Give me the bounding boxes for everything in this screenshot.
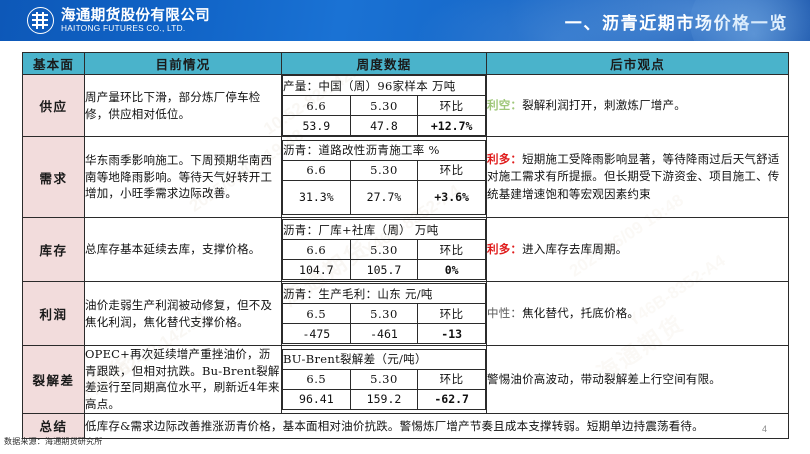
summary-text: 低库存&需求边际改善推涨沥青价格，基本面相对油价抗跌。警惕炼厂增产节奏且成本支撑…: [85, 413, 789, 438]
weekly-value-b: -461: [350, 324, 418, 344]
col-header-view: 后市观点: [487, 53, 789, 75]
row-category: 需求: [23, 137, 85, 218]
source-note: 数据来源：海通期货研究所: [4, 436, 102, 447]
weekly-date-a: 6.6: [283, 160, 351, 180]
view-text: 进入库存去库周期。: [522, 242, 627, 256]
table-row: 利润 油价走弱生产利润被动修复，但不及焦化利润，焦化替代支撑价格。 沥青：生产毛…: [23, 282, 789, 346]
page-number: 4: [762, 424, 767, 434]
weekly-change-label: 环比: [418, 369, 486, 389]
fundamentals-table: 基本面 目前情况 周度数据 后市观点 供应 周产量环比下滑，部分炼厂停车检修，供…: [22, 52, 789, 439]
bottom-strip: [0, 446, 810, 454]
weekly-date-b: 5.30: [350, 160, 418, 180]
weekly-value-b: 27.7%: [350, 180, 418, 214]
weekly-change-label: 环比: [418, 96, 486, 116]
weekly-mini-table: 沥青：厂库+社库（周） 万吨 6.6 5.30 环比 104.7 105.7 0…: [282, 219, 486, 280]
row-view: 中性：焦化替代，托底价格。: [487, 282, 789, 346]
row-category: 供应: [23, 75, 85, 137]
weekly-change-value: -13: [418, 324, 486, 344]
table-row: 库存 总库存基本延续去库，支撑价格。 沥青：厂库+社库（周） 万吨 6.6 5.…: [23, 218, 789, 282]
weekly-date-b: 5.30: [350, 96, 418, 116]
weekly-date-b: 5.30: [350, 240, 418, 260]
row-situation: 油价走弱生产利润被动修复，但不及焦化利润，焦化替代支撑价格。: [85, 282, 282, 346]
row-weekly-block: 沥青：生产毛利：山东 元/吨 6.5 5.30 环比 -475 -461 -13: [282, 282, 487, 346]
table-header-row: 基本面 目前情况 周度数据 后市观点: [23, 53, 789, 75]
row-view: 利空：裂解利润打开，刺激炼厂增产。: [487, 75, 789, 137]
weekly-date-b: 5.30: [350, 304, 418, 324]
row-category: 裂解差: [23, 346, 85, 414]
weekly-title: BU-Brent裂解差（元/吨）: [283, 349, 486, 369]
summary-label: 总结: [23, 413, 85, 438]
weekly-date-a: 6.6: [283, 240, 351, 260]
brand-block: 海通期货股份有限公司 HAITONG FUTURES CO., LTD.: [27, 7, 210, 34]
slide-title: 一、沥青近期市场价格一览: [565, 9, 788, 34]
view-tag: 利多：: [487, 152, 522, 166]
row-situation: 总库存基本延续去库，支撑价格。: [85, 218, 282, 282]
row-category: 库存: [23, 218, 85, 282]
col-header-fundamental: 基本面: [23, 53, 85, 75]
row-weekly-block: 产量：中国（周）96家样本 万吨 6.6 5.30 环比 53.9 47.8 +…: [282, 75, 487, 137]
weekly-date-a: 6.5: [283, 369, 351, 389]
weekly-change-label: 环比: [418, 240, 486, 260]
row-view: 利多：进入库存去库周期。: [487, 218, 789, 282]
summary-row: 总结 低库存&需求边际改善推涨沥青价格，基本面相对油价抗跌。警惕炼厂增产节奏且成…: [23, 413, 789, 438]
row-view: 警惕油价高波动，带动裂解差上行空间有限。: [487, 346, 789, 414]
weekly-date-a: 6.5: [283, 304, 351, 324]
table-row: 裂解差 OPEC+再次延续增产重挫油价，沥青跟跌，但相对抗跌。Bu-Brent裂…: [23, 346, 789, 414]
view-text: 警惕油价高波动，带动裂解差上行空间有限。: [487, 372, 721, 386]
col-header-weekly: 周度数据: [282, 53, 487, 75]
table-row: 供应 周产量环比下滑，部分炼厂停车检修，供应相对低位。 产量：中国（周）96家样…: [23, 75, 789, 137]
haitong-circle-logo-icon: [27, 7, 54, 34]
row-view: 利多：短期施工受降雨影响显著，等待降雨过后天气舒适对施工需求有所提振。但长期受下…: [487, 137, 789, 218]
weekly-value-b: 105.7: [350, 260, 418, 280]
weekly-change-value: +12.7%: [418, 116, 486, 136]
row-situation: 华东雨季影响施工。下周预期华南西南等地降雨影响。等待天气好转开工增加，小旺季需求…: [85, 137, 282, 218]
weekly-mini-table: 产量：中国（周）96家样本 万吨 6.6 5.30 环比 53.9 47.8 +…: [282, 75, 486, 136]
weekly-change-value: -62.7: [418, 389, 486, 409]
weekly-title: 沥青：厂库+社库（周） 万吨: [283, 220, 486, 240]
row-weekly-block: BU-Brent裂解差（元/吨） 6.5 5.30 环比 96.41 159.2…: [282, 346, 487, 414]
weekly-date-a: 6.6: [283, 96, 351, 116]
weekly-title: 沥青：道路改性沥青施工率 %: [283, 140, 486, 160]
view-text: 焦化替代，托底价格。: [522, 306, 639, 320]
weekly-change-value: +3.6%: [418, 180, 486, 214]
row-situation: 周产量环比下滑，部分炼厂停车检修，供应相对低位。: [85, 75, 282, 137]
weekly-value-a: 31.3%: [283, 180, 351, 214]
view-tag: 利空：: [487, 98, 522, 112]
col-header-situation: 目前情况: [85, 53, 282, 75]
weekly-value-a: -475: [283, 324, 351, 344]
weekly-value-b: 47.8: [350, 116, 418, 136]
weekly-value-a: 96.41: [283, 389, 351, 409]
weekly-value-b: 159.2: [350, 389, 418, 409]
weekly-title: 产量：中国（周）96家样本 万吨: [283, 76, 486, 96]
weekly-change-label: 环比: [418, 160, 486, 180]
company-name-cn: 海通期货股份有限公司: [61, 8, 210, 23]
view-tag: 中性：: [487, 306, 522, 320]
weekly-change-label: 环比: [418, 304, 486, 324]
row-category: 利润: [23, 282, 85, 346]
weekly-date-b: 5.30: [350, 369, 418, 389]
weekly-mini-table: 沥青：道路改性沥青施工率 % 6.6 5.30 环比 31.3% 27.7% +…: [282, 140, 486, 215]
weekly-mini-table: BU-Brent裂解差（元/吨） 6.5 5.30 环比 96.41 159.2…: [282, 349, 486, 410]
weekly-title: 沥青：生产毛利：山东 元/吨: [283, 284, 486, 304]
row-weekly-block: 沥青：道路改性沥青施工率 % 6.6 5.30 环比 31.3% 27.7% +…: [282, 137, 487, 218]
header-banner: 海通期货股份有限公司 HAITONG FUTURES CO., LTD. 一、沥…: [0, 0, 810, 41]
row-weekly-block: 沥青：厂库+社库（周） 万吨 6.6 5.30 环比 104.7 105.7 0…: [282, 218, 487, 282]
row-situation: OPEC+再次延续增产重挫油价，沥青跟跌，但相对抗跌。Bu-Brent裂解差运行…: [85, 346, 282, 414]
view-tag: 利多：: [487, 242, 522, 256]
weekly-value-a: 104.7: [283, 260, 351, 280]
table-row: 需求 华东雨季影响施工。下周预期华南西南等地降雨影响。等待天气好转开工增加，小旺…: [23, 137, 789, 218]
weekly-value-a: 53.9: [283, 116, 351, 136]
view-text: 裂解利润打开，刺激炼厂增产。: [522, 98, 686, 112]
weekly-mini-table: 沥青：生产毛利：山东 元/吨 6.5 5.30 环比 -475 -461 -13: [282, 283, 486, 344]
weekly-change-value: 0%: [418, 260, 486, 280]
view-text: 短期施工受降雨影响显著，等待降雨过后天气舒适对施工需求有所提振。但长期受下游资金…: [487, 152, 780, 201]
company-name-en: HAITONG FUTURES CO., LTD.: [61, 24, 210, 33]
